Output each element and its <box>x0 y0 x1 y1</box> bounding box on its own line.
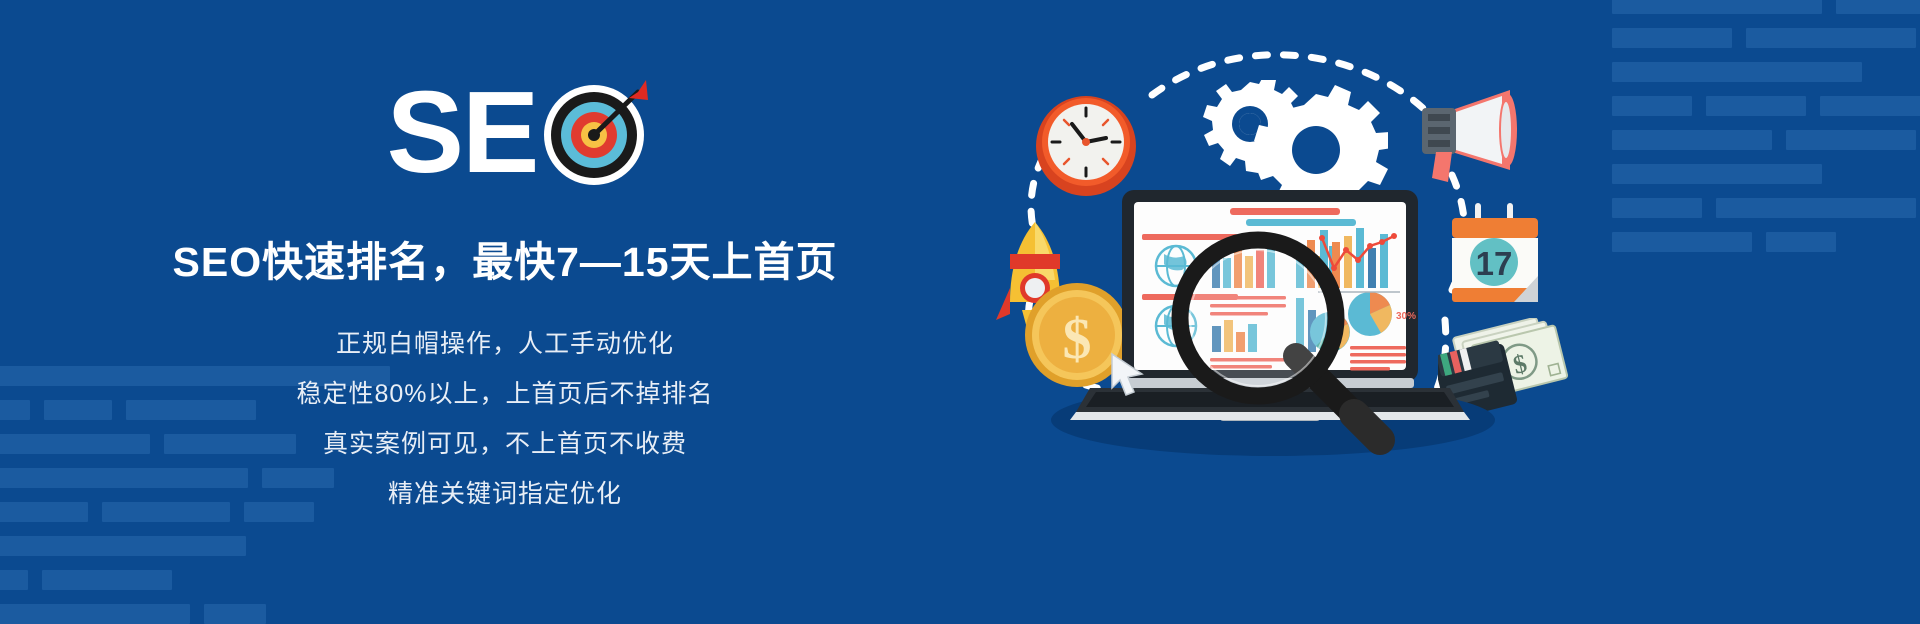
code-pattern-bar <box>1820 96 1920 116</box>
feature-line-4: 精准关键词指定优化 <box>388 474 622 510</box>
code-pattern-row <box>1612 0 1920 14</box>
code-pattern-row <box>1612 232 1920 252</box>
page-title: SEO快速排名，最快7—15天上首页 <box>173 228 838 288</box>
code-pattern-row <box>1612 198 1920 218</box>
code-pattern-right <box>1612 0 1920 252</box>
code-pattern-row <box>1612 164 1920 184</box>
code-pattern-bar <box>1612 130 1772 150</box>
code-pattern-bar <box>1836 0 1920 14</box>
code-pattern-bar <box>1612 232 1752 252</box>
code-pattern-bar <box>1612 164 1822 184</box>
code-pattern-row <box>1612 28 1920 48</box>
logo-text: SE <box>387 79 538 186</box>
feature-line-3: 真实案例可见，不上首页不收费 <box>323 424 687 460</box>
feature-line-2: 稳定性80%以上，上首页后不掉排名 <box>296 374 713 410</box>
code-pattern-bar <box>1612 198 1702 218</box>
chart-percent-label: 30% <box>1396 311 1416 322</box>
magnifier-icon <box>1168 228 1398 458</box>
alarm-clock-icon <box>1030 88 1142 200</box>
feature-list: 正规白帽操作，人工手动优化 稳定性80%以上，上首页后不掉排名 真实案例可见，不… <box>296 324 713 510</box>
code-pattern-bar <box>1612 96 1692 116</box>
code-pattern-bar <box>1716 198 1916 218</box>
target-bullseye-icon <box>541 78 649 186</box>
code-pattern-bar <box>1612 62 1862 82</box>
cursor-arrow-icon <box>1108 352 1148 398</box>
calendar-day: 17 <box>1476 245 1513 282</box>
feature-line-1: 正规白帽操作，人工手动优化 <box>336 324 674 360</box>
text-column: SE SEO快速排名，最快7—15天上首页 正规白帽操作，人工手动优化 稳定性8… <box>0 0 1010 624</box>
seo-illustration: $ 17 <box>1000 0 1560 624</box>
code-pattern-bar <box>1706 96 1806 116</box>
megaphone-icon <box>1400 78 1530 190</box>
code-pattern-bar <box>1612 0 1822 14</box>
code-pattern-bar <box>1612 28 1732 48</box>
code-pattern-bar <box>1746 28 1916 48</box>
code-pattern-row <box>1612 96 1920 116</box>
code-pattern-bar <box>1766 232 1836 252</box>
seo-logo: SE <box>387 78 650 186</box>
code-pattern-row <box>1612 130 1920 150</box>
code-pattern-bar <box>1786 130 1916 150</box>
code-pattern-row <box>1612 62 1920 82</box>
seo-promo-banner: SE SEO快速排名，最快7—15天上首页 正规白帽操作，人工手动优化 稳定性8… <box>0 0 1920 624</box>
